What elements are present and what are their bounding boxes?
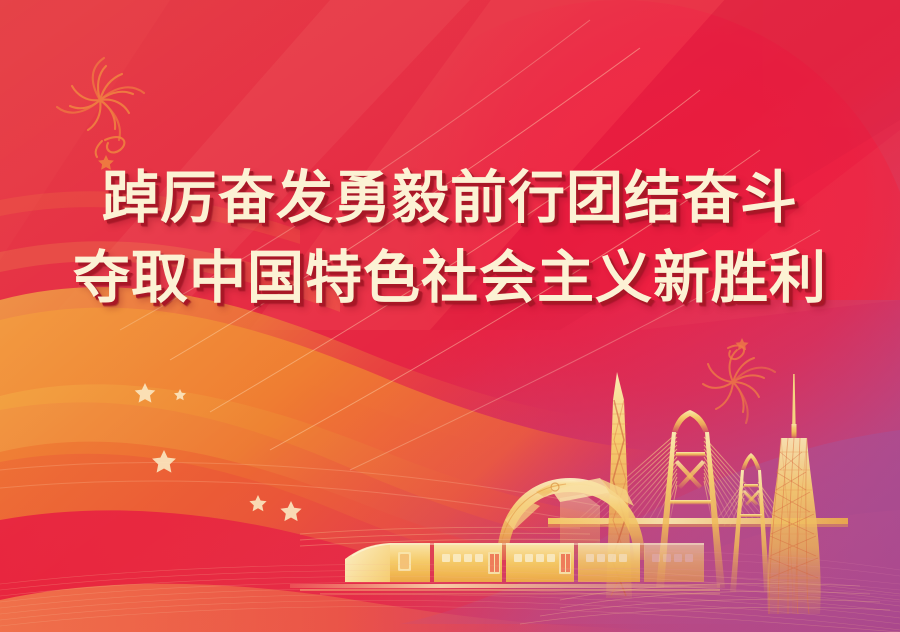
vignette-overlay [0,0,900,632]
poster-canvas: 踔厉奋发勇毅前行团结奋斗 夺取中国特色社会主义新胜利 [0,0,900,632]
